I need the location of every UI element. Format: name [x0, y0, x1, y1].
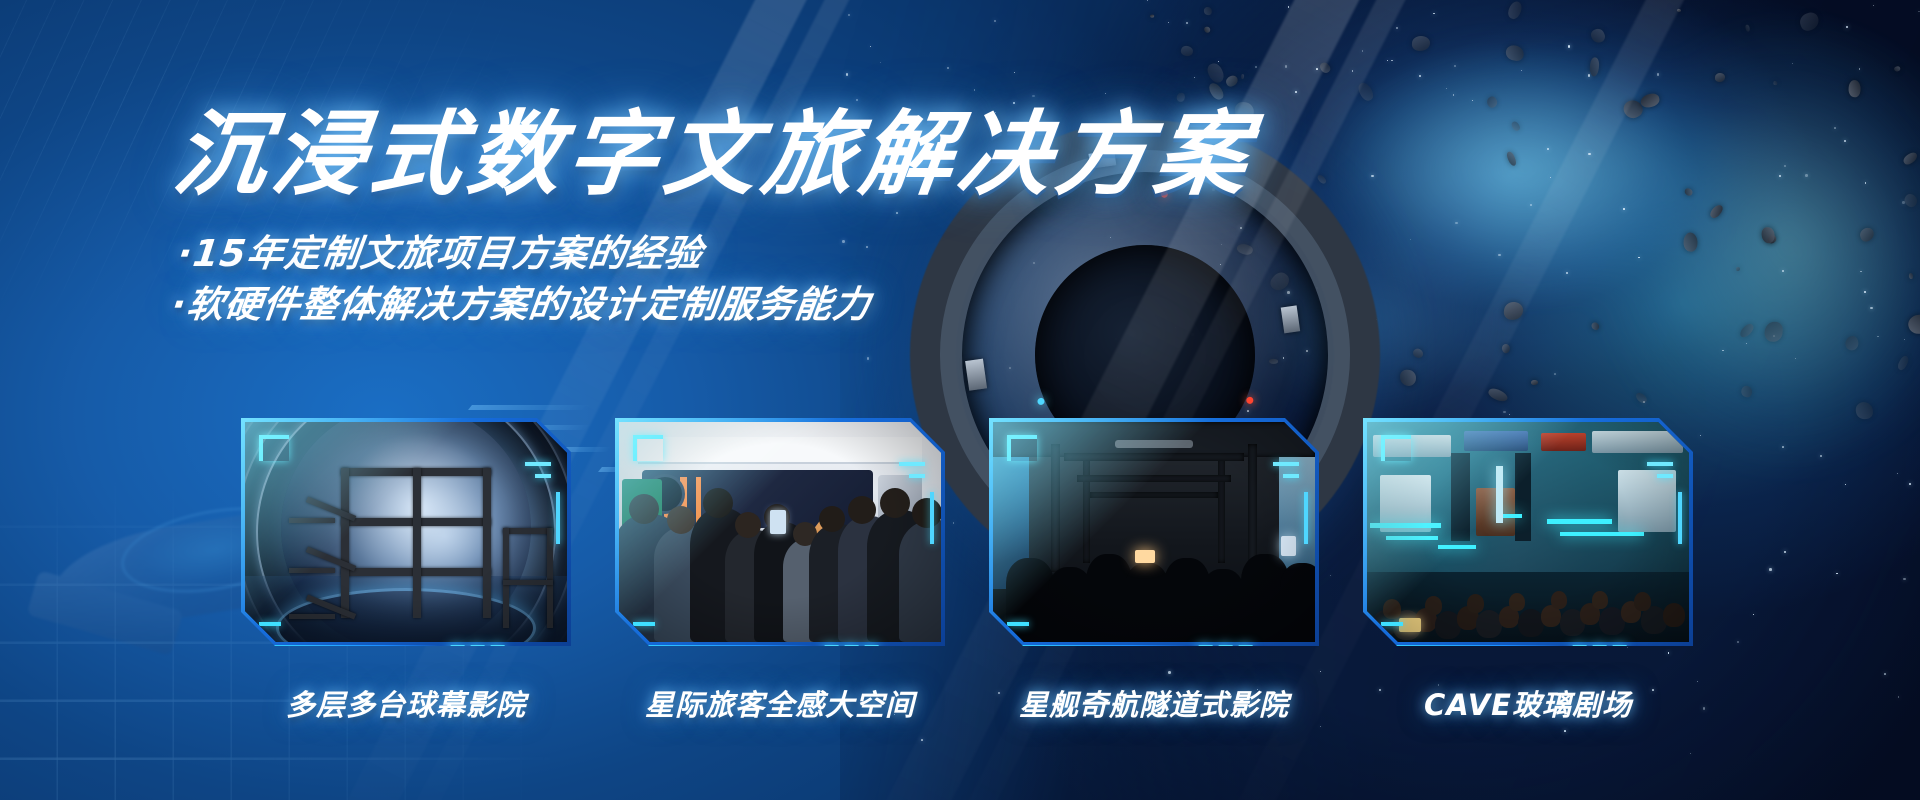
multi-level-dome-cinema-photo [245, 422, 567, 642]
cave-glass-theater-photo [1367, 422, 1689, 642]
card-glow-bar [625, 645, 815, 654]
card-caption: 星际旅客全感大空间 [588, 682, 972, 724]
starship-tunnel-cinema-photo [993, 422, 1315, 642]
card-caption: 多层多台球幕影院 [214, 682, 598, 724]
card-caption: 星舰奇航隧道式影院 [962, 682, 1346, 724]
subtitle-line-1: ·15年定制文旅项目方案的经验 [175, 228, 1259, 279]
card-glow-bar [251, 645, 441, 654]
subtitle-line-2: ·软硬件整体解决方案的设计定制服务能力 [169, 279, 1253, 330]
card-frame [1363, 418, 1693, 646]
card-glow-bar [1373, 645, 1563, 654]
card-dash-marks [823, 645, 877, 654]
card-dash-marks [1197, 645, 1251, 654]
interstellar-traveler-exhibition-photo [619, 422, 941, 642]
card-frame [241, 418, 571, 646]
card-caption: CAVE玻璃剧场 [1336, 682, 1720, 724]
card-frame [615, 418, 945, 646]
page-title: 沉浸式数字文旅解决方案 [169, 108, 1259, 202]
feature-card[interactable]: CAVE玻璃剧场 [1336, 418, 1720, 724]
feature-card-row: 多层多台球幕影院 [0, 418, 1920, 724]
subtitle-list: ·15年定制文旅项目方案的经验 ·软硬件整体解决方案的设计定制服务能力 [169, 228, 1260, 330]
headline-block: 沉浸式数字文旅解决方案 ·15年定制文旅项目方案的经验 ·软硬件整体解决方案的设… [175, 108, 1253, 330]
hero-banner: 沉浸式数字文旅解决方案 ·15年定制文旅项目方案的经验 ·软硬件整体解决方案的设… [0, 0, 1920, 800]
feature-card[interactable]: 多层多台球幕影院 [214, 418, 598, 724]
feature-card[interactable]: 星际旅客全感大空间 [588, 418, 972, 724]
card-dash-marks [449, 645, 503, 654]
card-glow-bar [999, 645, 1189, 654]
card-frame [989, 418, 1319, 646]
feature-card[interactable]: 星舰奇航隧道式影院 [962, 418, 1346, 724]
card-dash-marks [1571, 645, 1625, 654]
